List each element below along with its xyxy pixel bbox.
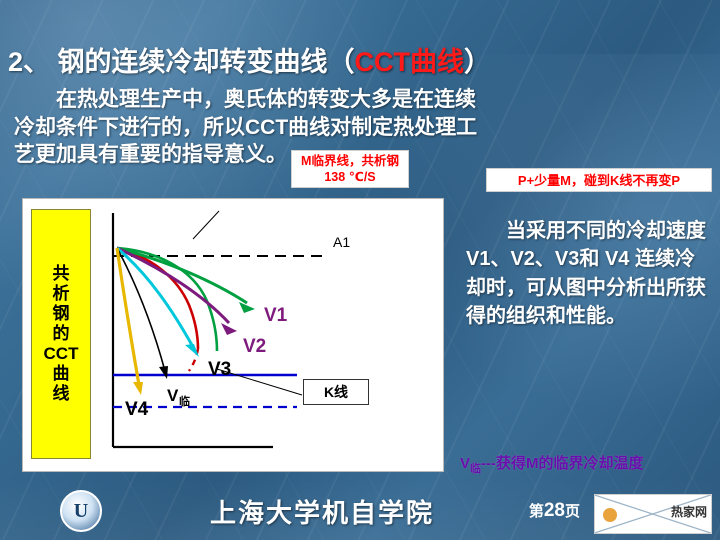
yellow-label-line-1: 析: [53, 284, 70, 304]
yellow-label-line-3: 的: [53, 324, 70, 344]
yellow-label-line-0: 共: [53, 264, 70, 284]
cct-figure-panel: 共 析 钢 的 CCT 曲 线: [22, 198, 444, 472]
label-v-critical: V: [167, 386, 179, 405]
page-number-suffix: 页: [565, 503, 580, 520]
v-critical-note-sub: 临: [470, 463, 481, 475]
label-v3: V3: [208, 359, 231, 380]
k-line-box: K线: [303, 379, 369, 405]
curve-v2-arrowhead: [221, 323, 237, 335]
yellow-label-line-4: CCT: [44, 344, 79, 364]
callout-leader: [193, 211, 219, 239]
label-v1: V1: [264, 305, 288, 326]
figure-yellow-label: 共 析 钢 的 CCT 曲 线: [31, 209, 91, 459]
slide-title-prefix: 2、 钢的连续冷却转变曲线（: [8, 47, 355, 77]
right-column-text: 当采用不同的冷却速度V1、V2、V3和 V4 连续冷却时，可从图中分析出所获得的…: [466, 217, 712, 331]
curve-v-critical-arrowhead: [159, 366, 168, 379]
watermark-text: 热家网: [671, 503, 707, 520]
label-v4: V4: [125, 399, 149, 420]
university-logo: U: [60, 490, 102, 532]
cct-diagram: A1 Ms Mf V1 V2 V3 V4 V 临: [97, 199, 443, 471]
slide-title: 2、 钢的连续冷却转变曲线（CCT曲线）: [8, 40, 712, 79]
v-critical-note-main: V: [460, 455, 470, 472]
yellow-label-line-5: 曲: [53, 364, 70, 384]
yellow-label-line-6: 线: [53, 384, 70, 404]
v-critical-note-rest: ---获得M的临界冷却温度: [481, 455, 643, 472]
page-number-value: 28: [544, 500, 565, 521]
footer-bar: U 上海大学机自学院 第28页 热家网: [0, 478, 720, 540]
label-v2: V2: [243, 336, 266, 357]
curve-v3: [117, 248, 193, 347]
label-a1: A1: [333, 234, 350, 250]
right-column-text-body: 当采用不同的冷却速度V1、V2、V3和 V4 连续冷却时，可从图中分析出所获得的…: [466, 217, 712, 331]
callout-m-critical-line: M临界线，共析钢138 ℃/S: [291, 150, 409, 188]
school-name: 上海大学机自学院: [210, 493, 434, 530]
watermark-badge: 热家网: [594, 494, 712, 534]
intro-paragraph-text: 在热处理生产中，奥氏体的转变大多是在连续冷却条件下进行的，所以CCT曲线对制定热…: [14, 86, 494, 169]
page-number: 第28页: [529, 500, 580, 522]
slide-title-highlight: CCT曲线: [355, 47, 465, 77]
yellow-label-line-2: 钢: [53, 304, 70, 324]
v-critical-note: V临---获得M的临界冷却温度: [460, 452, 715, 476]
slide-title-suffix: ）: [464, 47, 491, 77]
label-v-critical-sub: 临: [179, 394, 190, 408]
intro-paragraph: 在热处理生产中，奥氏体的转变大多是在连续冷却条件下进行的，所以CCT曲线对制定热…: [14, 86, 494, 169]
curve-v1-arrowhead: [239, 302, 255, 313]
university-logo-text: U: [74, 500, 88, 523]
callout-p-plus-m: P+少量M，碰到K线不再变P: [486, 168, 712, 192]
page-number-prefix: 第: [529, 503, 544, 520]
curve-v4-arrowhead: [133, 382, 143, 395]
watermark-dot-icon: [603, 508, 617, 522]
